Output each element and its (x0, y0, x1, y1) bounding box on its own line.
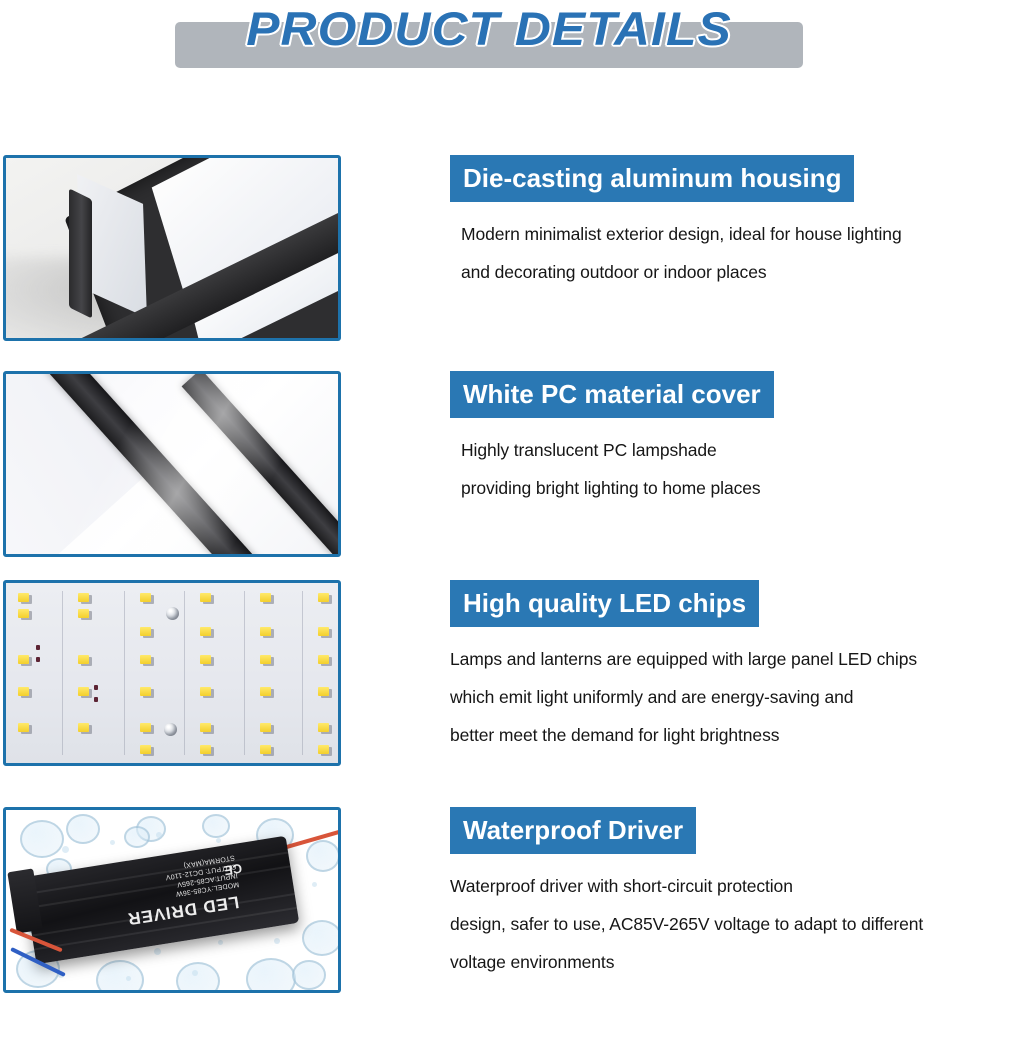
led-chip (318, 723, 329, 732)
led-chip (318, 627, 329, 636)
led-chip (78, 687, 89, 696)
water-droplet (156, 832, 162, 838)
waterproof-driver-photo: MODEL:YC85-36W INPUT:AC85-265V OUTPUT: D… (3, 807, 341, 993)
description-line: Waterproof driver with short-circuit pro… (450, 867, 1024, 905)
feature-description-1: Modern minimalist exterior design, ideal… (450, 215, 1024, 291)
led-chip (200, 627, 211, 636)
led-chip (318, 687, 329, 696)
led-chip (18, 687, 29, 696)
led-chip (260, 627, 271, 636)
water-droplet (216, 838, 221, 843)
led-chip (140, 627, 151, 636)
led-chip (200, 723, 211, 732)
led-chip (140, 745, 151, 754)
led-chip (318, 655, 329, 664)
pcb-mounting-hole (166, 607, 179, 620)
pcb-resistor (94, 685, 98, 690)
feature-text-4: Waterproof Driver Waterproof driver with… (450, 807, 1024, 981)
led-chip (260, 655, 271, 664)
pcb-trace (244, 591, 245, 755)
water-splash (20, 820, 64, 858)
feature-description-3: Lamps and lanterns are equipped with lar… (450, 640, 1024, 754)
description-line: providing bright lighting to home places (461, 469, 1024, 507)
led-chip (200, 745, 211, 754)
feature-banner-4: Waterproof Driver (450, 807, 696, 854)
led-chip (140, 655, 151, 664)
led-chip (78, 593, 89, 602)
pcb-trace (302, 591, 303, 755)
led-chip (260, 745, 271, 754)
water-droplet (110, 840, 115, 845)
water-droplet (154, 948, 161, 955)
led-chip (18, 723, 29, 732)
water-droplet (62, 846, 69, 853)
lamp-corner-post (69, 188, 92, 318)
water-splash (66, 814, 100, 844)
feature-banner-3: High quality LED chips (450, 580, 759, 627)
white-pc-cover-photo (3, 371, 341, 557)
water-droplet (126, 976, 131, 981)
light-sheen (6, 374, 338, 554)
description-line: and decorating outdoor or indoor places (461, 253, 1024, 291)
led-chip (18, 655, 29, 664)
description-line: voltage environments (450, 943, 1024, 981)
led-chip (78, 655, 89, 664)
led-chip (140, 593, 151, 602)
water-splash (202, 814, 230, 838)
led-chip (200, 655, 211, 664)
description-line: design, safer to use, AC85V-265V voltage… (450, 905, 1024, 943)
ce-mark-icon: CE (223, 861, 243, 879)
pcb-resistor (94, 697, 98, 702)
water-droplet (218, 940, 223, 945)
description-line: Lamps and lanterns are equipped with lar… (450, 640, 1024, 678)
led-chip (260, 687, 271, 696)
led-chip (18, 593, 29, 602)
pcb-trace (124, 591, 125, 755)
water-splash (96, 960, 144, 993)
water-droplet (192, 970, 198, 976)
description-line: which emit light uniformly and are energ… (450, 678, 1024, 716)
feature-text-3: High quality LED chips Lamps and lantern… (450, 580, 1024, 754)
led-chip (140, 723, 151, 732)
feature-description-2: Highly translucent PC lampshade providin… (450, 431, 1024, 507)
led-chip (260, 723, 271, 732)
water-splash (302, 920, 341, 956)
feature-description-4: Waterproof driver with short-circuit pro… (450, 867, 1024, 981)
water-splash (306, 840, 340, 872)
water-splash (246, 958, 296, 993)
description-line: better meet the demand for light brightn… (450, 716, 1024, 754)
feature-text-2: White PC material cover Highly transluce… (450, 371, 1024, 507)
water-splash (176, 962, 220, 993)
die-cast-aluminum-housing-photo (3, 155, 341, 341)
led-chip (78, 723, 89, 732)
pcb-resistor (36, 657, 40, 662)
water-splash (124, 826, 150, 848)
feature-banner-2: White PC material cover (450, 371, 774, 418)
led-chip (18, 609, 29, 618)
led-chip (200, 593, 211, 602)
feature-banner-1: Die-casting aluminum housing (450, 155, 854, 202)
water-droplet (274, 938, 280, 944)
led-chip (260, 593, 271, 602)
feature-text-1: Die-casting aluminum housing Modern mini… (450, 155, 1024, 291)
description-line: Highly translucent PC lampshade (461, 431, 1024, 469)
description-line: Modern minimalist exterior design, ideal… (461, 215, 1024, 253)
led-chip (78, 609, 89, 618)
page-header: PRODUCT DETAILS (0, 0, 1024, 100)
footer-clipped-line (0, 1052, 1024, 1062)
led-chip (140, 687, 151, 696)
led-chip (200, 687, 211, 696)
pcb-trace (62, 591, 63, 755)
page-title: PRODUCT DETAILS (156, 0, 822, 58)
led-chip-board-photo (3, 580, 341, 766)
pcb-resistor (36, 645, 40, 650)
pcb-mounting-hole (164, 723, 177, 736)
led-chip (318, 745, 329, 754)
led-chip (318, 593, 329, 602)
water-splash (292, 960, 326, 990)
pcb-trace (184, 591, 185, 755)
water-droplet (312, 882, 317, 887)
